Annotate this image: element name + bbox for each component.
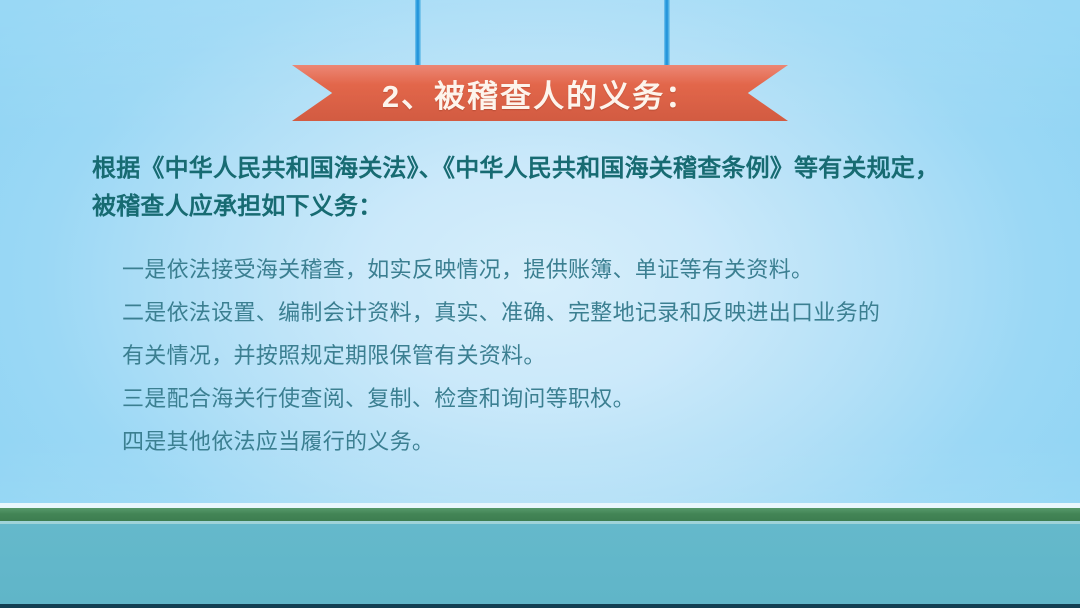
- slide-canvas: 2、被稽查人的义务： 根据《中华人民共和国海关法》、《中华人民共和国海关稽查条例…: [0, 0, 1080, 608]
- list-item-line: 三是配合海关行使查阅、复制、检查和询问等职权。: [122, 377, 1022, 420]
- list-item-line: 一是依法接受海关稽查，如实反映情况，提供账簿、单证等有关资料。: [122, 248, 1022, 291]
- list-item: 四是其他依法应当履行的义务。: [122, 420, 1022, 463]
- footer-band-teal: [0, 524, 1080, 604]
- hanging-line-left: [415, 0, 421, 70]
- intro-line-1: 根据《中华人民共和国海关法》、《中华人民共和国海关稽查条例》等有关规定，: [92, 150, 1022, 188]
- intro-line-2: 被稽查人应承担如下义务：: [92, 188, 1022, 226]
- obligations-list: 一是依法接受海关稽查，如实反映情况，提供账簿、单证等有关资料。 二是依法设置、编…: [122, 248, 1022, 463]
- intro-paragraph: 根据《中华人民共和国海关法》、《中华人民共和国海关稽查条例》等有关规定， 被稽查…: [92, 150, 1022, 226]
- footer-band-navy: [0, 604, 1080, 608]
- list-item-line: 二是依法设置、编制会计资料，真实、准确、完整地记录和反映进出口业务的: [122, 291, 1022, 334]
- hanging-line-right: [664, 0, 670, 70]
- list-item-line: 四是其他依法应当履行的义务。: [122, 420, 1022, 463]
- body-content: 根据《中华人民共和国海关法》、《中华人民共和国海关稽查条例》等有关规定， 被稽查…: [0, 150, 1080, 463]
- section-title: 2、被稽查人的义务：: [382, 71, 698, 116]
- list-item: 三是配合海关行使查阅、复制、检查和询问等职权。: [122, 377, 1022, 420]
- list-item-line: 有关情况，并按照规定期限保管有关资料。: [122, 334, 1022, 377]
- section-ribbon-banner: 2、被稽查人的义务：: [292, 65, 788, 121]
- footer-band-green: [0, 508, 1080, 521]
- list-item: 二是依法设置、编制会计资料，真实、准确、完整地记录和反映进出口业务的 有关情况，…: [122, 291, 1022, 377]
- list-item: 一是依法接受海关稽查，如实反映情况，提供账簿、单证等有关资料。: [122, 248, 1022, 291]
